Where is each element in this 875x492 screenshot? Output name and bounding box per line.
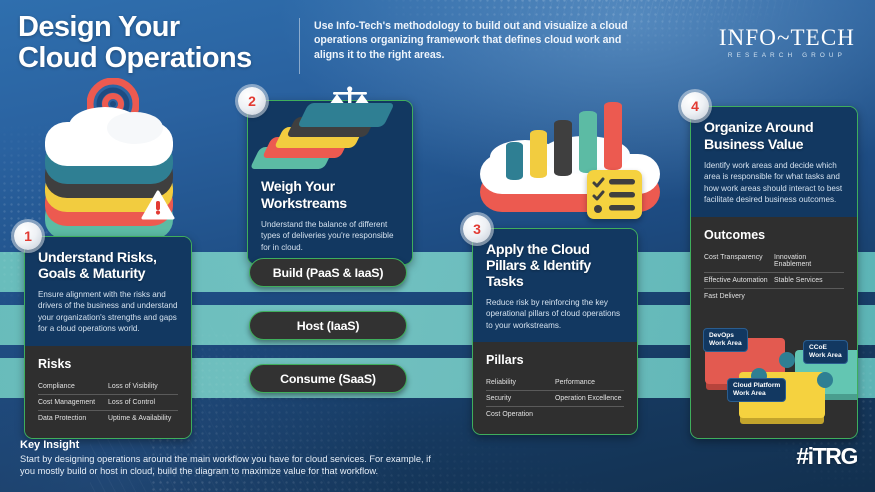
step-1-title-line2: Goals & Maturity <box>38 266 178 282</box>
step-3-title-line2: Pillars & Identify <box>486 258 624 274</box>
table-cell: Data Protection <box>38 415 108 422</box>
table-cell <box>774 293 844 300</box>
table-cell: Loss of Control <box>108 399 178 406</box>
table-row: Cost Operation <box>486 407 624 422</box>
title-divider <box>299 18 300 74</box>
step-2-title: Weigh Your Workstreams <box>261 179 399 212</box>
table-cell: Loss of Visibility <box>108 383 178 390</box>
work-area-cloud-line1: Cloud Platform <box>733 382 780 390</box>
table-row: Effective Automation Stable Services <box>704 273 844 289</box>
puzzle-knob-3 <box>817 372 833 388</box>
workstream-card-blue <box>297 103 395 127</box>
step-panel-3[interactable]: Apply the Cloud Pillars & Identify Tasks… <box>472 228 638 435</box>
header-description: Use Info-Tech's methodology to build out… <box>314 19 644 62</box>
step-3-title-line1: Apply the Cloud <box>486 242 624 258</box>
table-row: Data Protection Uptime & Availability <box>38 411 178 426</box>
page-title-line1: Design Your <box>18 12 283 43</box>
table-cell <box>555 411 624 418</box>
outcomes-table: Outcomes Cost Transparency Innovation En… <box>691 217 857 316</box>
table-cell: Reliability <box>486 379 555 386</box>
pill-consume[interactable]: Consume (SaaS) <box>249 364 407 393</box>
pillar-cylinder-teal <box>579 111 597 173</box>
step-2-description: Understand the balance of different type… <box>261 219 399 253</box>
logo-tagline: RESEARCH GROUP <box>719 52 855 59</box>
step-badge-4: 4 <box>681 92 709 120</box>
risks-cloud-illustration <box>45 84 205 229</box>
step-1-title-line1: Understand Risks, <box>38 250 178 266</box>
table-row: Compliance Loss of Visibility <box>38 379 178 395</box>
work-area-devops-line1: DevOps <box>709 332 742 340</box>
work-area-ccoe-line1: CCoE <box>809 344 842 352</box>
table-cell: Cost Management <box>38 399 108 406</box>
step-1-description: Ensure alignment with the risks and driv… <box>38 289 178 335</box>
pill-host[interactable]: Host (IaaS) <box>249 311 407 340</box>
pill-build[interactable]: Build (PaaS & IaaS) <box>249 258 407 287</box>
pillar-cylinder-yellow <box>530 130 547 178</box>
key-insight-body: Start by designing operations around the… <box>20 453 440 478</box>
work-area-devops-line2: Work Area <box>709 340 742 348</box>
step-panel-1[interactable]: Understand Risks, Goals & Maturity Ensur… <box>24 236 192 439</box>
checklist-glyph <box>587 170 642 219</box>
pillars-table-title: Pillars <box>486 353 624 367</box>
step-1-header: Understand Risks, Goals & Maturity Ensur… <box>25 237 191 346</box>
step-badge-1: 1 <box>14 222 42 250</box>
cloud-bump-right <box>107 112 163 144</box>
info-tech-logo: INFO~TECH RESEARCH GROUP <box>719 26 855 59</box>
table-row: Cost Transparency Innovation Enablement <box>704 250 844 273</box>
pillars-table: Pillars Reliability Performance Security… <box>473 342 637 434</box>
key-insight: Key Insight Start by designing operation… <box>20 439 440 478</box>
step-4-title-line1: Organize Around <box>704 120 844 137</box>
step-badge-2: 2 <box>238 87 266 115</box>
work-area-label-ccoe: CCoE Work Area <box>803 340 848 364</box>
pillar-cylinder-dark <box>554 120 572 176</box>
table-cell: Performance <box>555 379 624 386</box>
step-4-description: Identify work areas and decide which are… <box>704 160 844 206</box>
table-cell: Compliance <box>38 383 108 390</box>
step-3-header: Apply the Cloud Pillars & Identify Tasks… <box>473 229 637 342</box>
table-cell: Effective Automation <box>704 277 774 284</box>
pillars-illustration <box>470 92 680 227</box>
table-cell: Cost Operation <box>486 411 555 418</box>
work-area-ccoe-line2: Work Area <box>809 352 842 360</box>
step-4-header: Organize Around Business Value Identify … <box>691 107 857 217</box>
work-area-cloud-line2: Work Area <box>733 390 780 398</box>
table-row: Security Operation Excellence <box>486 391 624 407</box>
risks-table-title: Risks <box>38 357 178 371</box>
step-3-title-line3: Tasks <box>486 274 624 290</box>
work-area-label-cloud-platform: Cloud Platform Work Area <box>727 378 786 402</box>
page-title: Design Your Cloud Operations <box>18 12 283 74</box>
outcomes-table-title: Outcomes <box>704 228 844 242</box>
table-cell: Innovation Enablement <box>774 254 844 268</box>
page-title-line2: Cloud Operations <box>18 43 283 74</box>
step-3-description: Reduce risk by reinforcing the key opera… <box>486 297 624 331</box>
warning-icon <box>141 190 175 220</box>
table-cell: Fast Delivery <box>704 293 774 300</box>
step-2-title-line2: Workstreams <box>261 196 399 213</box>
work-area-label-devops: DevOps Work Area <box>703 328 748 352</box>
step-panel-4[interactable]: Organize Around Business Value Identify … <box>690 106 858 439</box>
infographic-canvas: Design Your Cloud Operations Use Info-Te… <box>0 0 875 492</box>
table-cell: Cost Transparency <box>704 254 774 268</box>
workstreams-illustration <box>253 93 409 183</box>
table-row: Cost Management Loss of Control <box>38 395 178 411</box>
pillar-cylinder-red <box>604 102 622 170</box>
work-areas-illustration: DevOps Work Area CCoE Work Area Cloud Pl… <box>691 316 857 438</box>
puzzle-knob-1 <box>779 352 795 368</box>
table-row: Fast Delivery <box>704 289 844 304</box>
step-4-title-line2: Business Value <box>704 137 844 154</box>
key-insight-title: Key Insight <box>20 439 440 451</box>
checklist-icon <box>587 170 642 219</box>
table-cell: Stable Services <box>774 277 844 284</box>
step-4-title: Organize Around Business Value <box>704 120 844 153</box>
step-3-title: Apply the Cloud Pillars & Identify Tasks <box>486 242 624 290</box>
step-badge-3: 3 <box>463 215 491 243</box>
table-cell: Security <box>486 395 555 402</box>
itrg-logo: #iTRG <box>796 443 857 470</box>
table-cell: Operation Excellence <box>555 395 624 402</box>
risks-table: Risks Compliance Loss of Visibility Cost… <box>25 346 191 438</box>
pillar-cylinder-blue <box>506 142 523 180</box>
table-row: Reliability Performance <box>486 375 624 391</box>
table-cell: Uptime & Availability <box>108 415 178 422</box>
logo-wordmark: INFO~TECH <box>719 26 855 49</box>
step-1-title: Understand Risks, Goals & Maturity <box>38 250 178 282</box>
